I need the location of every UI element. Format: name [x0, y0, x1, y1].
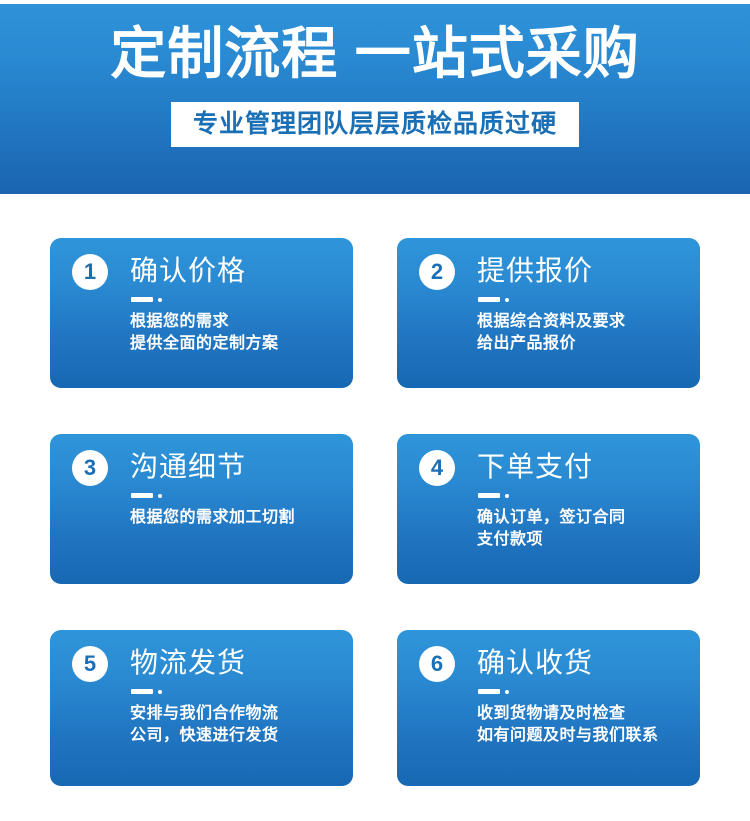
card-header: 5 物流发货 [72, 646, 246, 682]
step-description: 根据综合资料及要求 给出产品报价 [477, 311, 686, 355]
step-title: 物流发货 [130, 646, 246, 680]
header-banner: 定制流程 一站式采购 专业管理团队层层质检品质过硬 [0, 4, 750, 194]
process-step-grid: 1 确认价格 根据您的需求 提供全面的定制方案 2 提供报价 [50, 238, 700, 786]
step-description-line: 支付款项 [477, 529, 686, 551]
process-step-card[interactable]: 6 确认收货 收到货物请及时检查 如有问题及时与我们联系 [397, 630, 700, 786]
dash-dot-divider-icon [131, 295, 171, 305]
step-description-line: 根据您的需求 [130, 311, 339, 333]
step-description: 收到货物请及时检查 如有问题及时与我们联系 [477, 703, 686, 747]
step-description-line: 安排与我们合作物流 [130, 703, 339, 725]
step-title: 确认价格 [130, 254, 246, 288]
step-number-badge: 2 [419, 254, 455, 290]
process-step-card[interactable]: 3 沟通细节 根据您的需求加工切割 [50, 434, 353, 584]
divider-dash [478, 297, 500, 302]
step-title: 确认收货 [477, 646, 593, 680]
step-description-line: 根据您的需求加工切割 [130, 507, 339, 529]
step-description: 根据您的需求 提供全面的定制方案 [130, 311, 339, 355]
step-number-badge: 6 [419, 646, 455, 682]
card-header: 4 下单支付 [419, 450, 593, 486]
step-description-line: 给出产品报价 [477, 333, 686, 355]
divider-dot [158, 494, 162, 498]
divider-dash [478, 689, 500, 694]
dash-dot-divider-icon [478, 295, 518, 305]
step-description-line: 根据综合资料及要求 [477, 311, 686, 333]
divider-dot [158, 690, 162, 694]
process-step-card[interactable]: 2 提供报价 根据综合资料及要求 给出产品报价 [397, 238, 700, 388]
dash-dot-divider-icon [131, 491, 171, 501]
step-description-line: 如有问题及时与我们联系 [477, 725, 686, 747]
card-header: 2 提供报价 [419, 254, 593, 290]
divider-dash [131, 493, 153, 498]
step-description-line: 公司，快速进行发货 [130, 725, 339, 747]
step-description-line: 收到货物请及时检查 [477, 703, 686, 725]
process-step-card[interactable]: 5 物流发货 安排与我们合作物流 公司，快速进行发货 [50, 630, 353, 786]
step-title: 下单支付 [477, 450, 593, 484]
subtitle-text: 专业管理团队层层质检品质过硬 [193, 109, 557, 139]
process-infographic-page: 定制流程 一站式采购 专业管理团队层层质检品质过硬 1 确认价格 根据您的需求 … [0, 0, 750, 821]
divider-dot [505, 298, 509, 302]
card-header: 6 确认收货 [419, 646, 593, 682]
step-title: 沟通细节 [130, 450, 246, 484]
step-description: 根据您的需求加工切割 [130, 507, 339, 529]
divider-dot [505, 494, 509, 498]
divider-dot [158, 298, 162, 302]
card-header: 1 确认价格 [72, 254, 246, 290]
dash-dot-divider-icon [478, 491, 518, 501]
divider-dash [131, 689, 153, 694]
divider-dash [131, 297, 153, 302]
process-step-card[interactable]: 4 下单支付 确认订单，签订合同 支付款项 [397, 434, 700, 584]
step-description-line: 确认订单，签订合同 [477, 507, 686, 529]
step-description: 确认订单，签订合同 支付款项 [477, 507, 686, 551]
step-description-line: 提供全面的定制方案 [130, 333, 339, 355]
step-number-badge: 3 [72, 450, 108, 486]
subtitle-box: 专业管理团队层层质检品质过硬 [171, 102, 579, 147]
step-title: 提供报价 [477, 254, 593, 288]
divider-dash [478, 493, 500, 498]
dash-dot-divider-icon [478, 687, 518, 697]
divider-dot [505, 690, 509, 694]
step-number-badge: 1 [72, 254, 108, 290]
step-description: 安排与我们合作物流 公司，快速进行发货 [130, 703, 339, 747]
card-header: 3 沟通细节 [72, 450, 246, 486]
dash-dot-divider-icon [131, 687, 171, 697]
page-title: 定制流程 一站式采购 [110, 18, 640, 90]
process-step-card[interactable]: 1 确认价格 根据您的需求 提供全面的定制方案 [50, 238, 353, 388]
step-number-badge: 5 [72, 646, 108, 682]
step-number-badge: 4 [419, 450, 455, 486]
